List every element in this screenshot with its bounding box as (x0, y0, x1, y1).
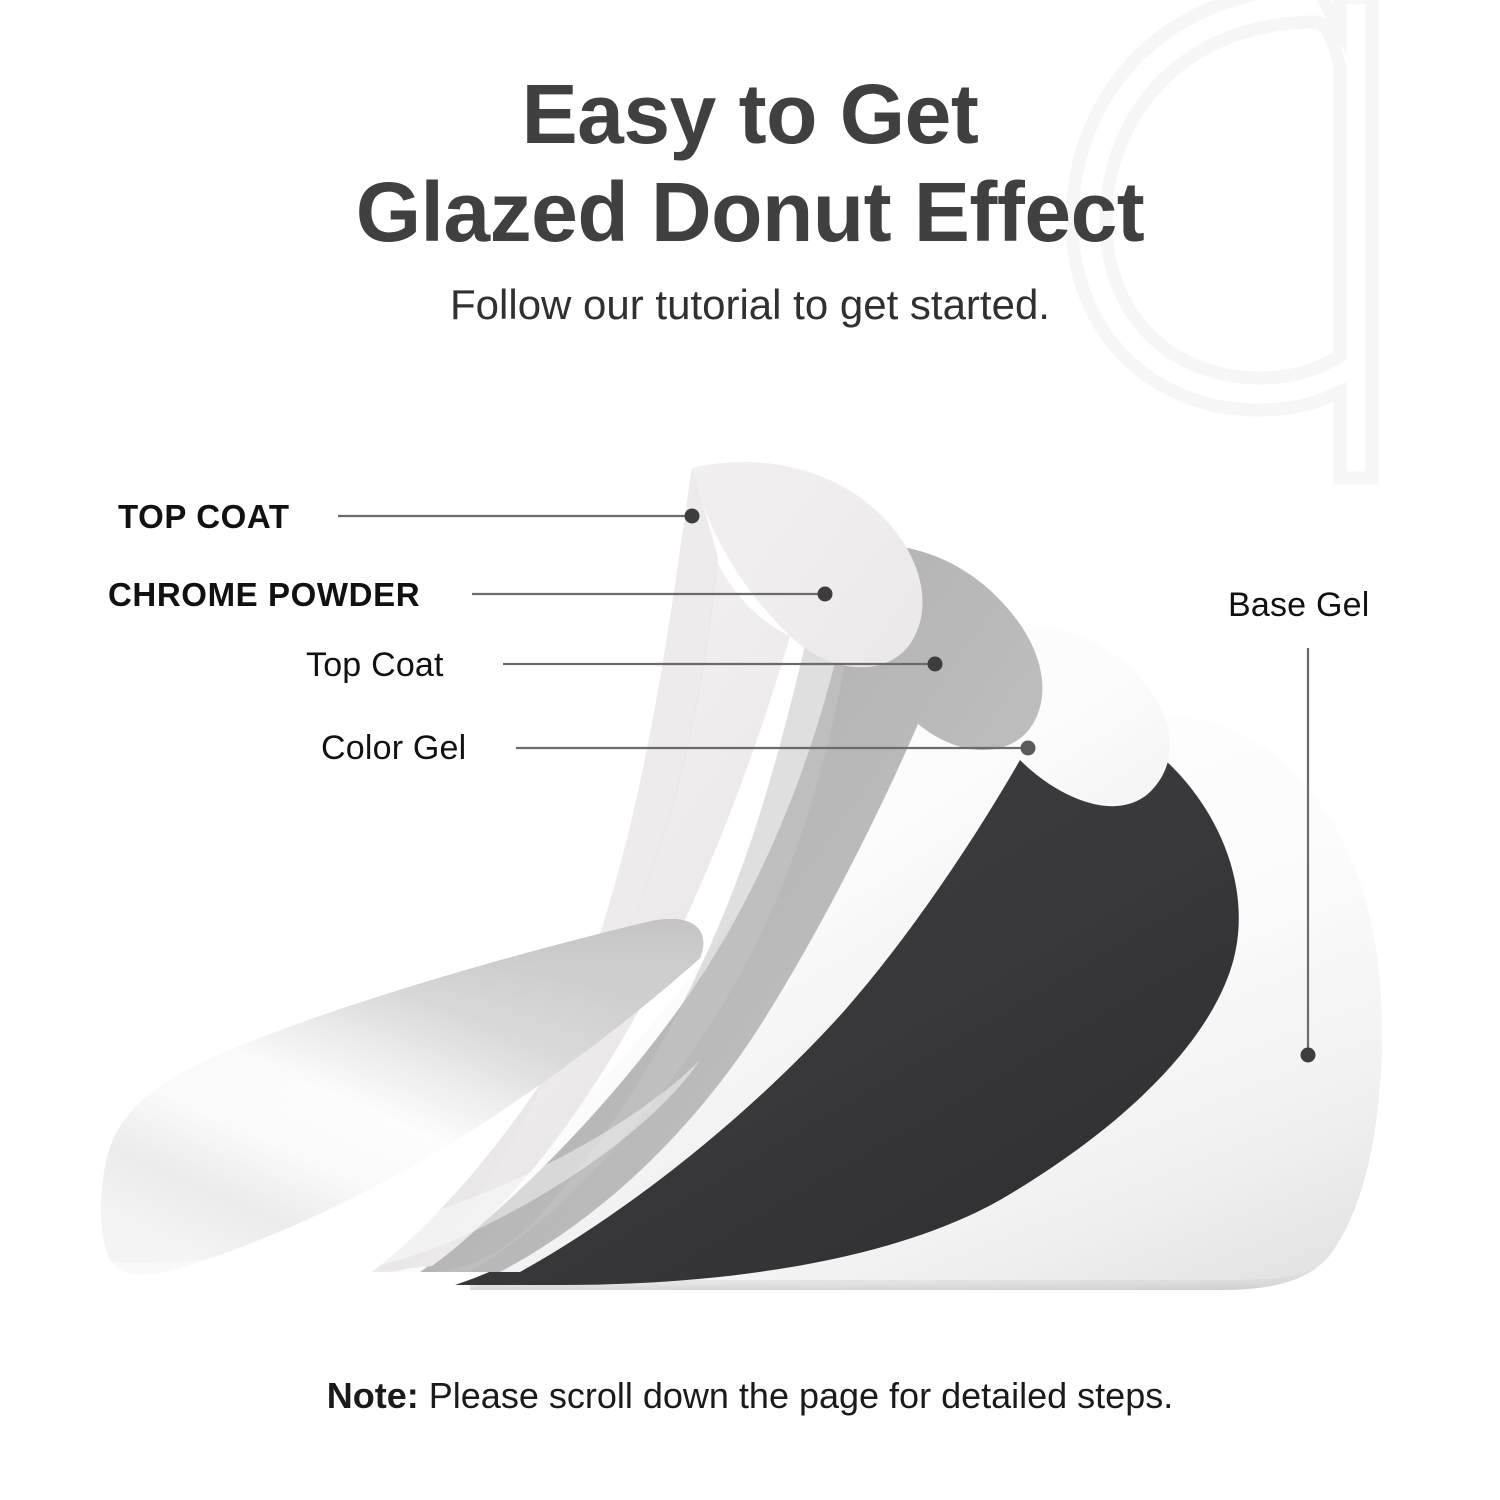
leader-dot-chrome-powder (818, 587, 833, 602)
label-base-gel: Base Gel (1228, 586, 1369, 625)
footer-note-prefix: Note: (327, 1375, 419, 1416)
nail-layers-illustration (0, 0, 1500, 1500)
label-top-coat-caps: TOP COAT (118, 498, 290, 536)
label-color-gel: Color Gel (321, 729, 466, 768)
leader-dot-base-gel (1301, 1048, 1316, 1063)
leader-dot-color-gel (1021, 741, 1036, 756)
leader-dot-top-coat (928, 657, 943, 672)
leader-dot-top-coat-caps (685, 509, 700, 524)
footer-note-text: Please scroll down the page for detailed… (419, 1375, 1173, 1416)
footer-note: Note: Please scroll down the page for de… (0, 1374, 1500, 1418)
label-top-coat: Top Coat (306, 646, 444, 685)
label-chrome-powder: CHROME POWDER (108, 576, 420, 614)
infographic-page: Easy to Get Glazed Donut Effect Follow o… (0, 0, 1500, 1500)
